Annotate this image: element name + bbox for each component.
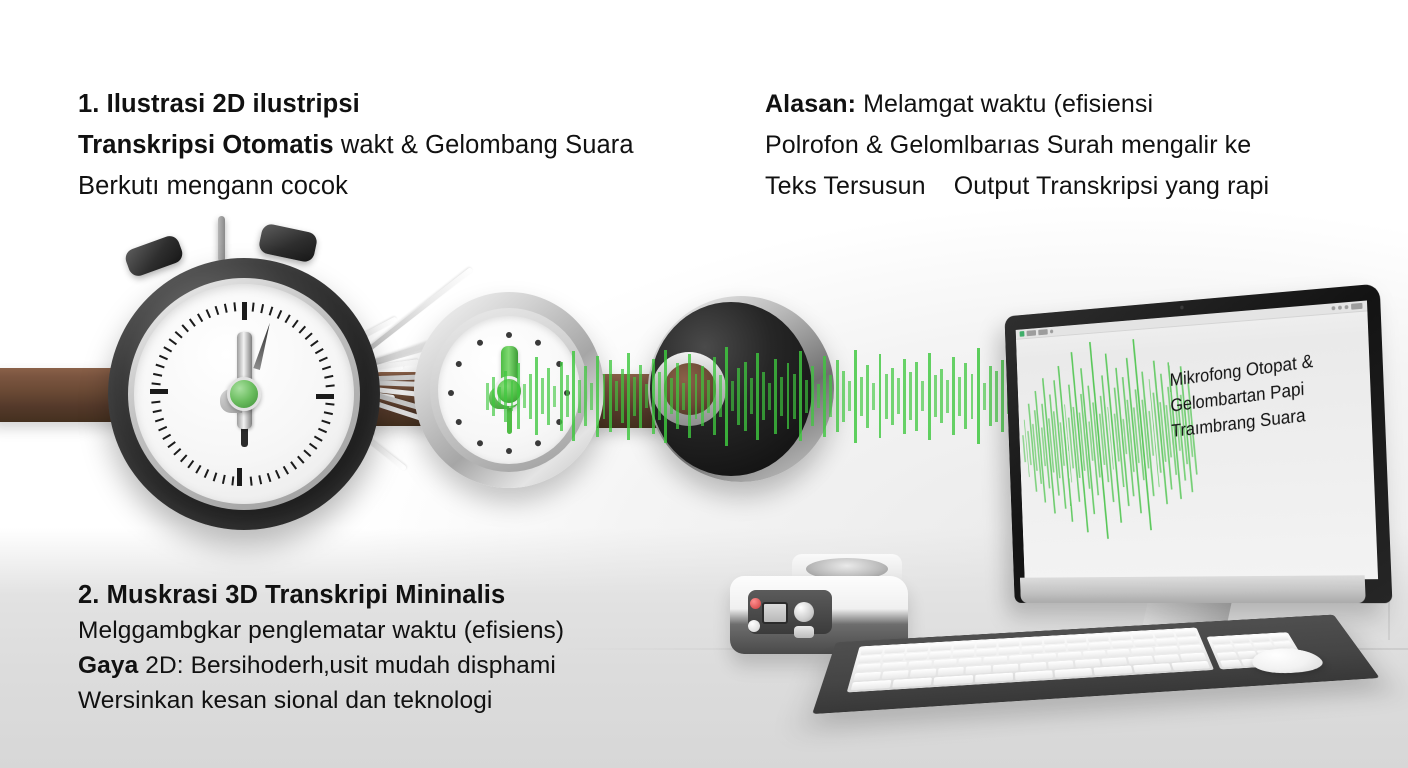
keyboard-key[interactable] (853, 672, 881, 681)
keyboard-key[interactable] (1054, 668, 1092, 678)
webcam-icon (1180, 305, 1184, 309)
minimize-icon[interactable] (1332, 306, 1336, 310)
waveform-bar (909, 372, 912, 420)
tick-minor (322, 366, 331, 371)
stopwatch-face (134, 284, 354, 504)
waveform-bar (676, 363, 679, 429)
keyboard-key[interactable] (1015, 670, 1053, 680)
keyboard-key[interactable] (959, 657, 982, 666)
keyboard-key[interactable] (1131, 632, 1153, 640)
app-menu-icon[interactable] (1020, 331, 1025, 337)
waveform-bar (590, 383, 593, 410)
tick-minor (167, 441, 175, 448)
tick-minor (324, 375, 333, 379)
waveform-bar (566, 375, 569, 417)
text-block-top-left: 1. Ilustrasi 2D ilustripsi Transkripsi O… (78, 84, 634, 207)
keyboard-key[interactable] (976, 640, 997, 648)
keyboard-key[interactable] (1180, 653, 1207, 662)
waveform-bar (560, 362, 563, 431)
tick-minor (297, 456, 305, 464)
waveform-bar (934, 375, 937, 417)
waveform-bar (866, 365, 869, 428)
tick-minor (173, 448, 181, 456)
keyboard-key[interactable] (882, 670, 909, 679)
waveform-bar (915, 362, 918, 431)
keyboard-key[interactable] (1048, 660, 1074, 669)
keyboard-key[interactable] (1131, 647, 1155, 655)
waveform-bar (787, 363, 790, 429)
waveform-bar (756, 353, 759, 440)
stopwatch-hand-tip (253, 322, 273, 370)
tick-minor (152, 382, 161, 385)
keyboard-key[interactable] (1133, 663, 1172, 673)
tick-minor (318, 428, 327, 433)
tr-line1-rest: Melamgat waktu (efisiensi (863, 90, 1153, 118)
tick-minor (260, 304, 264, 313)
tick-major (316, 394, 334, 399)
screen-caption: Mikrofong Otopat & Gelombartan Papi Traı… (1169, 342, 1358, 444)
tick-minor (195, 465, 201, 474)
keyboard-key[interactable] (993, 664, 1018, 673)
tick-minor (250, 477, 253, 486)
numpad-key[interactable] (1253, 642, 1274, 649)
keyboard-key[interactable] (1154, 654, 1181, 663)
restore-icon[interactable] (1345, 305, 1349, 309)
tick-minor (222, 475, 226, 484)
waveform-bar (799, 351, 802, 441)
tick-minor (224, 304, 228, 313)
tick-minor (180, 454, 188, 462)
keyboard-key[interactable] (1110, 633, 1132, 641)
tick-minor (169, 338, 177, 345)
tick-minor (299, 326, 307, 334)
keyboard-key[interactable] (1101, 657, 1127, 666)
tr-line3-b: Output Transkripsi yang rapi (954, 172, 1269, 200)
waveform-bar (737, 368, 740, 425)
tick-minor (269, 307, 274, 316)
tr-line1-bold: Alasan: (765, 90, 856, 118)
waveform-bar (805, 380, 808, 413)
volume-knob[interactable] (794, 602, 814, 622)
text-block-top-right: Alasan: Melamgat waktu (efisiensi Polrof… (765, 84, 1269, 207)
dial-dot (476, 439, 484, 447)
keyboard-key[interactable] (1074, 659, 1100, 668)
keyboard-key[interactable] (851, 680, 892, 690)
waveform-bar (523, 384, 526, 408)
stopwatch-crown-stem (218, 216, 225, 262)
waveform-bar (842, 371, 845, 422)
keyboard-key[interactable] (1021, 638, 1042, 646)
waveform-bar (578, 380, 581, 413)
dial-dot (455, 418, 463, 426)
stopwatch-dial (108, 258, 380, 530)
bl-line1-bold: Muskrasi 3D Transkripi Mininalis (107, 581, 506, 609)
keyboard-key[interactable] (930, 643, 952, 651)
computer-monitor: Mikrofong Otopat & Gelombartan Papi Traı… (946, 283, 1386, 603)
waveform-bar (547, 368, 550, 425)
keyboard-key[interactable] (892, 677, 932, 687)
keyboard-key[interactable] (933, 659, 957, 668)
keyboard-key[interactable] (907, 644, 929, 652)
keyboard-key[interactable] (1066, 635, 1087, 643)
tick-minor (290, 461, 297, 469)
waveform-bar (639, 365, 642, 428)
waveform-bar (897, 378, 900, 414)
tick-major (150, 389, 168, 394)
waveform-bar (811, 366, 814, 426)
tl-line2-bold: Transkripsi Otomatis (78, 131, 334, 159)
tick-minor (275, 470, 280, 479)
numpad-key[interactable] (1220, 660, 1241, 668)
numpad-key[interactable] (1210, 637, 1230, 644)
keyboard-key[interactable] (1111, 641, 1133, 649)
tick-minor (326, 384, 335, 387)
keyboard-key[interactable] (1133, 639, 1155, 647)
numpad-key[interactable] (1233, 643, 1254, 650)
keyboard-key[interactable] (1171, 661, 1210, 671)
tick-minor (325, 403, 334, 406)
waveform-bar (682, 383, 685, 410)
tick-minor (153, 373, 162, 377)
toolbar-field-icon[interactable] (1038, 329, 1048, 335)
tick-minor (215, 306, 220, 315)
waveform-bar (750, 378, 753, 414)
tick-minor (206, 309, 211, 318)
keyboard-key[interactable] (1153, 630, 1175, 638)
waveform-bar (921, 381, 924, 411)
tick-minor (285, 314, 291, 323)
bl-line-4: Wersinkan kesan sional dan teknologi (78, 683, 564, 718)
screen-toolbar[interactable] (1016, 300, 1368, 339)
toolbar-more-icon[interactable] (1050, 330, 1053, 334)
numpad-key[interactable] (1230, 636, 1251, 643)
recorder-display (762, 602, 788, 624)
waveform-bar (744, 362, 747, 431)
keyboard-key[interactable] (975, 673, 1013, 683)
waveform-bar (719, 375, 722, 417)
waveform-bar (872, 383, 875, 410)
keyboard-key[interactable] (1155, 638, 1177, 646)
keyboard-key[interactable] (953, 642, 974, 650)
waveform-bar (627, 353, 630, 440)
tick-minor (252, 303, 255, 312)
record-button[interactable] (750, 598, 761, 609)
keyboard-key[interactable] (1127, 656, 1153, 665)
tick-minor (175, 331, 183, 339)
waveform-bar (713, 357, 716, 435)
keyboard-key[interactable] (1094, 666, 1133, 676)
tick-minor (315, 348, 324, 354)
waveform-bar (633, 377, 636, 416)
waveform-bar (688, 354, 691, 438)
monitor-screen[interactable]: Mikrofong Otopat & Gelombartan Papi Traı… (1016, 300, 1378, 581)
waveform-bar (891, 368, 894, 425)
waveform-bar (854, 350, 857, 443)
tl-line-2: Transkripsi Otomatis wakt & Gelombang Su… (78, 125, 634, 166)
waveform-bar (652, 359, 655, 434)
waveform-bar (670, 378, 673, 414)
keyboard-key[interactable] (1177, 637, 1200, 645)
bl-line-3: Gaya 2D: Bersihoderh‚usit mudah disphami (78, 648, 564, 683)
waveform-bar (885, 374, 888, 419)
maximize-icon[interactable] (1338, 306, 1342, 310)
waveform-bar (658, 372, 661, 420)
waveform-bar (860, 377, 863, 416)
tick-minor (310, 340, 318, 347)
tick-minor (213, 472, 218, 481)
waveform-bar (762, 372, 765, 420)
tick-minor (204, 469, 209, 478)
tick-major (242, 302, 247, 320)
toolbar-tab-icon[interactable] (1027, 330, 1037, 336)
keyboard-key[interactable] (856, 663, 881, 672)
monitor-chin (1020, 575, 1366, 603)
stopwatch-center-hub (227, 377, 261, 411)
tick-major (237, 468, 242, 486)
tr-line-3: Teks Tersusun Output Transkripsi yang ra… (765, 166, 1269, 207)
numpad-key[interactable] (1217, 652, 1238, 660)
keyboard-key[interactable] (1082, 650, 1106, 658)
tick-minor (231, 476, 234, 485)
keyboard-key[interactable] (999, 647, 1020, 655)
tick-minor (309, 443, 317, 450)
tl-line1-number: 1. (78, 90, 99, 118)
numpad-key[interactable] (1213, 645, 1234, 652)
waveform-bar (596, 356, 599, 437)
waveform-bar (836, 360, 839, 432)
waveform-bar (823, 356, 826, 437)
tick-minor (197, 313, 203, 322)
illustration-canvas: 1. Ilustrasi 2D ilustripsi Transkripsi O… (0, 0, 1408, 768)
waveform-bar (621, 369, 624, 423)
waveform-bar (879, 354, 882, 438)
tick-minor (303, 450, 311, 458)
tick-minor (189, 318, 196, 326)
power-button[interactable] (748, 620, 760, 632)
tick-minor (156, 364, 165, 369)
numpad-key[interactable] (1249, 635, 1270, 642)
tick-minor (319, 357, 328, 362)
waveform-bar (492, 377, 495, 416)
tick-minor (283, 466, 289, 475)
waveform-bar (615, 381, 618, 411)
tick-minor (321, 420, 330, 425)
monitor-bezel: Mikrofong Otopat & Gelombartan Papi Traı… (1004, 283, 1392, 603)
keyboard-key[interactable] (1009, 654, 1032, 663)
tick-minor (162, 434, 171, 440)
waveform-bar (940, 369, 943, 423)
tick-minor (153, 409, 162, 413)
keyboard-key[interactable] (882, 654, 905, 662)
waveform-bar (793, 374, 796, 419)
keyboard-key[interactable] (1022, 646, 1043, 654)
waveform-bar (817, 384, 820, 408)
bl-line3-bold: Gaya (78, 652, 138, 679)
keyboard-key[interactable] (860, 647, 883, 655)
keyboard-key[interactable] (1175, 629, 1197, 637)
waveform-bar (517, 363, 520, 429)
keyboard-key[interactable] (882, 662, 907, 671)
tick-minor (292, 320, 299, 328)
bl-line-1: 2. Muskrasi 3D Transkripi Mininalis (78, 578, 564, 613)
waveform-bar (848, 381, 851, 411)
waveform-bar (504, 371, 507, 422)
tr-line-1: Alasan: Melamgat waktu (efisiensi (765, 84, 1269, 125)
waveform-bar (645, 384, 648, 408)
recorder-function-pad[interactable] (794, 626, 814, 638)
keyboard-key[interactable] (1088, 634, 1109, 642)
tl-line2-rest: wakt & Gelombang Suara (341, 131, 634, 159)
keyboard-key[interactable] (929, 651, 951, 659)
keyboard-key[interactable] (1155, 646, 1179, 654)
waveform-bar (486, 383, 489, 410)
waveform-bar (529, 374, 532, 419)
waveform-bar (572, 351, 575, 441)
waveform-bar (695, 374, 698, 419)
waveform-bar (541, 378, 544, 414)
waveform-bar (701, 366, 704, 426)
keyboard-key[interactable] (1034, 653, 1057, 661)
waveform-bar (498, 387, 501, 405)
waveform-bar (707, 380, 710, 413)
keyboard-key[interactable] (1067, 643, 1089, 651)
waveform-bar (768, 383, 771, 410)
waveform-bar (664, 350, 667, 443)
tick-minor (277, 310, 282, 319)
keyboard-key[interactable] (907, 660, 931, 669)
waveform-bar (553, 386, 556, 407)
keyboard-key[interactable] (976, 648, 997, 656)
window-controls-icon[interactable] (1331, 303, 1362, 311)
tr-line3-a: Teks Tersusun (765, 172, 926, 200)
tick-minor (151, 401, 160, 404)
tick-minor (187, 460, 194, 468)
keyboard-key[interactable] (906, 652, 928, 660)
keyboard-key[interactable] (1107, 649, 1131, 657)
keyboard-key[interactable] (1021, 662, 1046, 671)
waveform-bar (584, 366, 587, 426)
waveform-bar (731, 381, 734, 411)
keyboard-key[interactable] (966, 665, 992, 674)
recorder-control-panel (748, 590, 832, 634)
keyboard-key[interactable] (938, 667, 964, 676)
waveform-bar (774, 359, 777, 434)
tr-line-2: Polrofon & Gelomlbarıas Surah mengalir k… (765, 125, 1269, 166)
dial-dot (476, 339, 484, 347)
bl-line-2: Melggambgkar penglematar waktu (efisiens… (78, 613, 564, 648)
waveform-bar (780, 377, 783, 416)
keyboard-key[interactable] (910, 668, 937, 677)
waveform-bar (928, 353, 931, 440)
close-icon[interactable] (1351, 303, 1363, 310)
waveform-bar (609, 360, 612, 432)
waveform-bar (829, 375, 832, 417)
bl-line3-rest: 2D: Bersihoderh‚usit mudah disphami (145, 652, 556, 679)
tick-minor (324, 411, 333, 415)
tick-minor (155, 418, 164, 423)
numpad-key[interactable] (1272, 641, 1293, 648)
tick-minor (159, 355, 168, 360)
tl-line-1: 1. Ilustrasi 2D ilustripsi (78, 84, 634, 125)
tick-minor (267, 473, 272, 482)
keyboard-key[interactable] (884, 646, 906, 654)
waveform-bar (603, 374, 606, 419)
tl-line-3: Berkutı mengann cocok (78, 166, 634, 207)
keyboard-key[interactable] (1179, 645, 1204, 653)
dial-dot (455, 360, 463, 368)
keyboard-key[interactable] (1089, 642, 1111, 650)
tl-line1-text: Ilustrasi 2D ilustripsi (107, 90, 360, 118)
keyboard-key[interactable] (984, 656, 1007, 665)
dial-dot (448, 390, 454, 396)
keyboard-key[interactable] (1044, 644, 1065, 652)
tick-minor (158, 426, 167, 431)
numpad-key[interactable] (1268, 634, 1289, 641)
tick-minor (314, 436, 323, 442)
keyboard-key[interactable] (1058, 652, 1081, 660)
tick-minor (163, 346, 172, 352)
keyboard-key[interactable] (858, 655, 881, 663)
tick-minor (233, 302, 236, 311)
waveform-bar (511, 381, 514, 411)
waveform-bar (725, 347, 728, 446)
text-block-bottom-left: 2. Muskrasi 3D Transkripi Mininalis Melg… (78, 578, 564, 718)
tick-minor (305, 332, 313, 340)
waveform-bar (535, 357, 538, 435)
keyboard-key[interactable] (934, 675, 973, 685)
tick-minor (181, 324, 189, 332)
tick-minor (258, 475, 262, 484)
bl-line1-number: 2. (78, 581, 99, 609)
keyboard-key[interactable] (952, 650, 973, 658)
keyboard-key[interactable] (1044, 637, 1065, 645)
keyboard-key[interactable] (999, 639, 1020, 647)
toolbar-left-icons[interactable] (1020, 329, 1054, 337)
waveform-bar (903, 359, 906, 434)
